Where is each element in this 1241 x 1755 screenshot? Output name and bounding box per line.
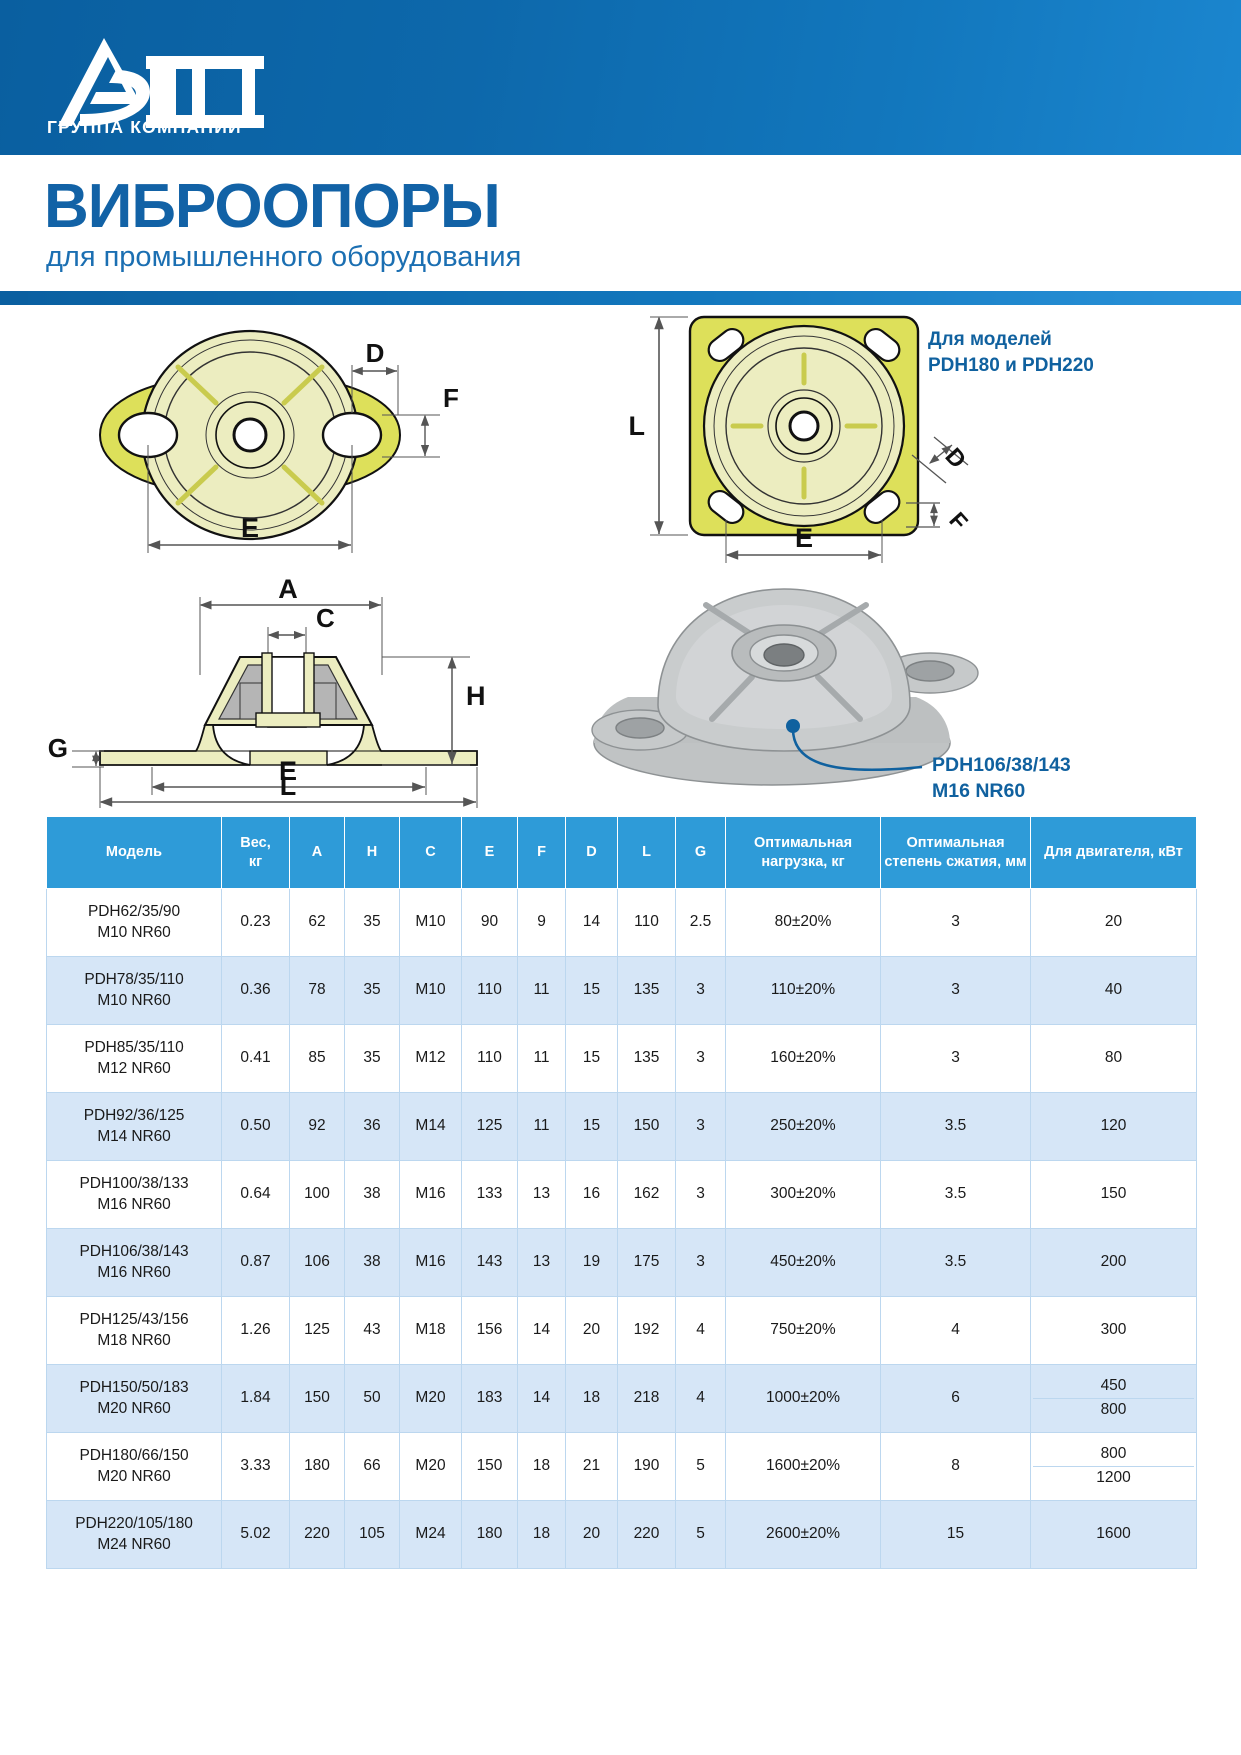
cell-model: PDH106/38/143M16 NR60 bbox=[47, 1229, 222, 1297]
title-divider bbox=[0, 291, 1241, 305]
cell-c: M16 bbox=[400, 1161, 462, 1229]
cell-a: 100 bbox=[290, 1161, 345, 1229]
drawing-square-plan: L E D F bbox=[629, 317, 974, 563]
cell-motor: 120 bbox=[1031, 1093, 1197, 1161]
table-header-row: Модель Вес,кг A H C E F D L G Оптимальна… bbox=[47, 817, 1197, 889]
page-subtitle: для промышленного оборудования bbox=[46, 243, 521, 272]
cell-g: 5 bbox=[676, 1433, 726, 1501]
cell-f: 13 bbox=[518, 1229, 566, 1297]
svg-text:D: D bbox=[366, 338, 385, 368]
cell-l: 135 bbox=[618, 957, 676, 1025]
cell-load: 2600±20% bbox=[726, 1501, 881, 1569]
col-header-compression: Оптимальная степень сжатия, мм bbox=[881, 817, 1031, 889]
cell-g: 3 bbox=[676, 1093, 726, 1161]
cell-motor-part: 800 bbox=[1033, 1443, 1194, 1467]
cell-h: 35 bbox=[345, 957, 400, 1025]
cell-model: PDH78/35/110M10 NR60 bbox=[47, 957, 222, 1025]
cell-e: 110 bbox=[462, 1025, 518, 1093]
cell-d: 20 bbox=[566, 1501, 618, 1569]
cell-l: 192 bbox=[618, 1297, 676, 1365]
title-divider-tab bbox=[0, 291, 28, 305]
cell-l: 218 bbox=[618, 1365, 676, 1433]
col-header-a: A bbox=[290, 817, 345, 889]
col-header-e: E bbox=[462, 817, 518, 889]
page-title: ВИБРООПОРЫ bbox=[44, 176, 500, 238]
spec-table-wrap: Модель Вес,кг A H C E F D L G Оптимальна… bbox=[46, 816, 1196, 1569]
cell-d: 18 bbox=[566, 1365, 618, 1433]
cell-c: M16 bbox=[400, 1229, 462, 1297]
cell-d: 19 bbox=[566, 1229, 618, 1297]
cell-g: 3 bbox=[676, 1229, 726, 1297]
cell-d: 20 bbox=[566, 1297, 618, 1365]
cell-c: M10 bbox=[400, 957, 462, 1025]
svg-text:L: L bbox=[280, 771, 297, 801]
col-header-g: G bbox=[676, 817, 726, 889]
cell-compression: 4 bbox=[881, 1297, 1031, 1365]
cell-motor: 8001200 bbox=[1031, 1433, 1197, 1501]
cell-model: PDH85/35/110M12 NR60 bbox=[47, 1025, 222, 1093]
cell-compression: 8 bbox=[881, 1433, 1031, 1501]
cell-e: 125 bbox=[462, 1093, 518, 1161]
cell-f: 13 bbox=[518, 1161, 566, 1229]
cell-a: 78 bbox=[290, 957, 345, 1025]
cell-f: 18 bbox=[518, 1433, 566, 1501]
svg-text:E: E bbox=[241, 513, 259, 543]
cell-compression: 3.5 bbox=[881, 1161, 1031, 1229]
cell-f: 14 bbox=[518, 1365, 566, 1433]
cell-f: 14 bbox=[518, 1297, 566, 1365]
cell-h: 35 bbox=[345, 1025, 400, 1093]
svg-text:E: E bbox=[795, 523, 813, 553]
cell-d: 15 bbox=[566, 1093, 618, 1161]
cell-motor: 80 bbox=[1031, 1025, 1197, 1093]
cell-model: PDH150/50/183M20 NR60 bbox=[47, 1365, 222, 1433]
cell-g: 4 bbox=[676, 1297, 726, 1365]
product-photo bbox=[592, 589, 978, 785]
cell-c: M12 bbox=[400, 1025, 462, 1093]
drawings-svg: D F E bbox=[0, 305, 1241, 810]
col-header-l: L bbox=[618, 817, 676, 889]
cell-motor: 1600 bbox=[1031, 1501, 1197, 1569]
cell-a: 180 bbox=[290, 1433, 345, 1501]
spec-table-body: PDH62/35/90M10 NR600.236235M10909141102.… bbox=[47, 889, 1197, 1569]
cell-motor: 200 bbox=[1031, 1229, 1197, 1297]
svg-text:F: F bbox=[443, 383, 459, 413]
cell-h: 38 bbox=[345, 1161, 400, 1229]
table-row: PDH85/35/110M12 NR600.418535M12110111513… bbox=[47, 1025, 1197, 1093]
cell-e: 143 bbox=[462, 1229, 518, 1297]
cell-compression: 3 bbox=[881, 1025, 1031, 1093]
cell-g: 2.5 bbox=[676, 889, 726, 957]
spec-table: Модель Вес,кг A H C E F D L G Оптимальна… bbox=[46, 816, 1197, 1569]
cell-g: 3 bbox=[676, 1025, 726, 1093]
cell-e: 110 bbox=[462, 957, 518, 1025]
cell-motor-part: 1200 bbox=[1033, 1467, 1194, 1491]
cell-load: 1600±20% bbox=[726, 1433, 881, 1501]
cell-a: 125 bbox=[290, 1297, 345, 1365]
cell-compression: 3.5 bbox=[881, 1229, 1031, 1297]
cell-f: 11 bbox=[518, 1093, 566, 1161]
cell-load: 80±20% bbox=[726, 889, 881, 957]
cell-model: PDH100/38/133M16 NR60 bbox=[47, 1161, 222, 1229]
table-row: PDH220/105/180M24 NR605.02220105M2418018… bbox=[47, 1501, 1197, 1569]
cell-h: 43 bbox=[345, 1297, 400, 1365]
cell-e: 150 bbox=[462, 1433, 518, 1501]
cell-load: 750±20% bbox=[726, 1297, 881, 1365]
cell-load: 300±20% bbox=[726, 1161, 881, 1229]
drawing-cross-section: A C H bbox=[48, 574, 486, 808]
cell-a: 62 bbox=[290, 889, 345, 957]
cell-e: 183 bbox=[462, 1365, 518, 1433]
cell-h: 50 bbox=[345, 1365, 400, 1433]
svg-text:L: L bbox=[629, 411, 646, 441]
cell-g: 3 bbox=[676, 1161, 726, 1229]
cell-l: 162 bbox=[618, 1161, 676, 1229]
cell-f: 11 bbox=[518, 1025, 566, 1093]
table-row: PDH100/38/133M16 NR600.6410038M161331316… bbox=[47, 1161, 1197, 1229]
cell-e: 90 bbox=[462, 889, 518, 957]
cell-motor: 40 bbox=[1031, 957, 1197, 1025]
cell-g: 4 bbox=[676, 1365, 726, 1433]
cell-d: 16 bbox=[566, 1161, 618, 1229]
cell-l: 190 bbox=[618, 1433, 676, 1501]
cell-weight: 0.23 bbox=[222, 889, 290, 957]
table-row: PDH92/36/125M14 NR600.509236M14125111515… bbox=[47, 1093, 1197, 1161]
cell-a: 150 bbox=[290, 1365, 345, 1433]
cell-weight: 1.84 bbox=[222, 1365, 290, 1433]
cell-a: 92 bbox=[290, 1093, 345, 1161]
cell-c: M10 bbox=[400, 889, 462, 957]
cell-c: M20 bbox=[400, 1433, 462, 1501]
cell-l: 110 bbox=[618, 889, 676, 957]
cell-load: 110±20% bbox=[726, 957, 881, 1025]
cell-h: 38 bbox=[345, 1229, 400, 1297]
cell-c: M14 bbox=[400, 1093, 462, 1161]
cell-c: M24 bbox=[400, 1501, 462, 1569]
cell-weight: 0.64 bbox=[222, 1161, 290, 1229]
cell-motor: 20 bbox=[1031, 889, 1197, 957]
cell-c: M18 bbox=[400, 1297, 462, 1365]
cell-compression: 15 bbox=[881, 1501, 1031, 1569]
col-header-h: H bbox=[345, 817, 400, 889]
product-callout-label: PDH106/38/143M16 NR60 bbox=[932, 752, 1071, 805]
cell-h: 66 bbox=[345, 1433, 400, 1501]
cell-e: 180 bbox=[462, 1501, 518, 1569]
cell-e: 156 bbox=[462, 1297, 518, 1365]
cell-load: 250±20% bbox=[726, 1093, 881, 1161]
cell-weight: 0.50 bbox=[222, 1093, 290, 1161]
cell-h: 35 bbox=[345, 889, 400, 957]
cell-d: 21 bbox=[566, 1433, 618, 1501]
cell-l: 220 bbox=[618, 1501, 676, 1569]
cell-a: 220 bbox=[290, 1501, 345, 1569]
cell-load: 160±20% bbox=[726, 1025, 881, 1093]
cell-motor-part: 800 bbox=[1033, 1399, 1194, 1423]
cell-compression: 3 bbox=[881, 889, 1031, 957]
cell-load: 450±20% bbox=[726, 1229, 881, 1297]
table-row: PDH106/38/143M16 NR600.8710638M161431319… bbox=[47, 1229, 1197, 1297]
header-band: ГРУППА КОМПАНИЙ bbox=[0, 0, 1241, 155]
table-row: PDH180/66/150M20 NR603.3318066M201501821… bbox=[47, 1433, 1197, 1501]
cell-d: 14 bbox=[566, 889, 618, 957]
cell-g: 5 bbox=[676, 1501, 726, 1569]
cell-e: 133 bbox=[462, 1161, 518, 1229]
cell-motor: 450800 bbox=[1031, 1365, 1197, 1433]
table-row: PDH150/50/183M20 NR601.8415050M201831418… bbox=[47, 1365, 1197, 1433]
col-header-weight: Вес,кг bbox=[222, 817, 290, 889]
svg-text:A: A bbox=[278, 574, 298, 604]
cell-compression: 3 bbox=[881, 957, 1031, 1025]
logo-subtitle: ГРУППА КОМПАНИЙ bbox=[47, 117, 242, 138]
svg-text:F: F bbox=[944, 507, 973, 535]
col-header-f: F bbox=[518, 817, 566, 889]
cell-d: 15 bbox=[566, 1025, 618, 1093]
cell-weight: 0.36 bbox=[222, 957, 290, 1025]
cell-weight: 1.26 bbox=[222, 1297, 290, 1365]
col-header-d: D bbox=[566, 817, 618, 889]
cell-a: 106 bbox=[290, 1229, 345, 1297]
drawing-oval-plan: D F E bbox=[100, 331, 459, 553]
svg-text:G: G bbox=[48, 733, 68, 763]
cell-f: 9 bbox=[518, 889, 566, 957]
cell-motor: 150 bbox=[1031, 1161, 1197, 1229]
cell-motor-part: 450 bbox=[1033, 1375, 1194, 1399]
svg-text:C: C bbox=[316, 603, 335, 633]
col-header-load: Оптимальная нагрузка, кг bbox=[726, 817, 881, 889]
svg-text:D: D bbox=[940, 443, 972, 474]
cell-c: M20 bbox=[400, 1365, 462, 1433]
cell-motor: 300 bbox=[1031, 1297, 1197, 1365]
cell-compression: 6 bbox=[881, 1365, 1031, 1433]
col-header-model: Модель bbox=[47, 817, 222, 889]
cell-weight: 5.02 bbox=[222, 1501, 290, 1569]
cell-d: 15 bbox=[566, 957, 618, 1025]
cell-model: PDH92/36/125M14 NR60 bbox=[47, 1093, 222, 1161]
cell-a: 85 bbox=[290, 1025, 345, 1093]
cell-model: PDH180/66/150M20 NR60 bbox=[47, 1433, 222, 1501]
technical-drawings: D F E bbox=[0, 305, 1241, 810]
cell-h: 105 bbox=[345, 1501, 400, 1569]
cell-l: 175 bbox=[618, 1229, 676, 1297]
cell-model: PDH220/105/180M24 NR60 bbox=[47, 1501, 222, 1569]
cell-h: 36 bbox=[345, 1093, 400, 1161]
cell-weight: 0.41 bbox=[222, 1025, 290, 1093]
cell-g: 3 bbox=[676, 957, 726, 1025]
cell-model: PDH62/35/90M10 NR60 bbox=[47, 889, 222, 957]
cell-weight: 0.87 bbox=[222, 1229, 290, 1297]
svg-text:H: H bbox=[466, 681, 486, 711]
cell-f: 11 bbox=[518, 957, 566, 1025]
cell-f: 18 bbox=[518, 1501, 566, 1569]
cell-model: PDH125/43/156M18 NR60 bbox=[47, 1297, 222, 1365]
col-header-c: C bbox=[400, 817, 462, 889]
table-row: PDH78/35/110M10 NR600.367835M10110111513… bbox=[47, 957, 1197, 1025]
table-row: PDH125/43/156M18 NR601.2612543M181561420… bbox=[47, 1297, 1197, 1365]
note-for-models: Для моделейPDH180 и PDH220 bbox=[928, 327, 1094, 378]
table-row: PDH62/35/90M10 NR600.236235M10909141102.… bbox=[47, 889, 1197, 957]
col-header-motor: Для двигателя, кВт bbox=[1031, 817, 1197, 889]
cell-l: 150 bbox=[618, 1093, 676, 1161]
cell-l: 135 bbox=[618, 1025, 676, 1093]
cell-weight: 3.33 bbox=[222, 1433, 290, 1501]
cell-compression: 3.5 bbox=[881, 1093, 1031, 1161]
cell-load: 1000±20% bbox=[726, 1365, 881, 1433]
